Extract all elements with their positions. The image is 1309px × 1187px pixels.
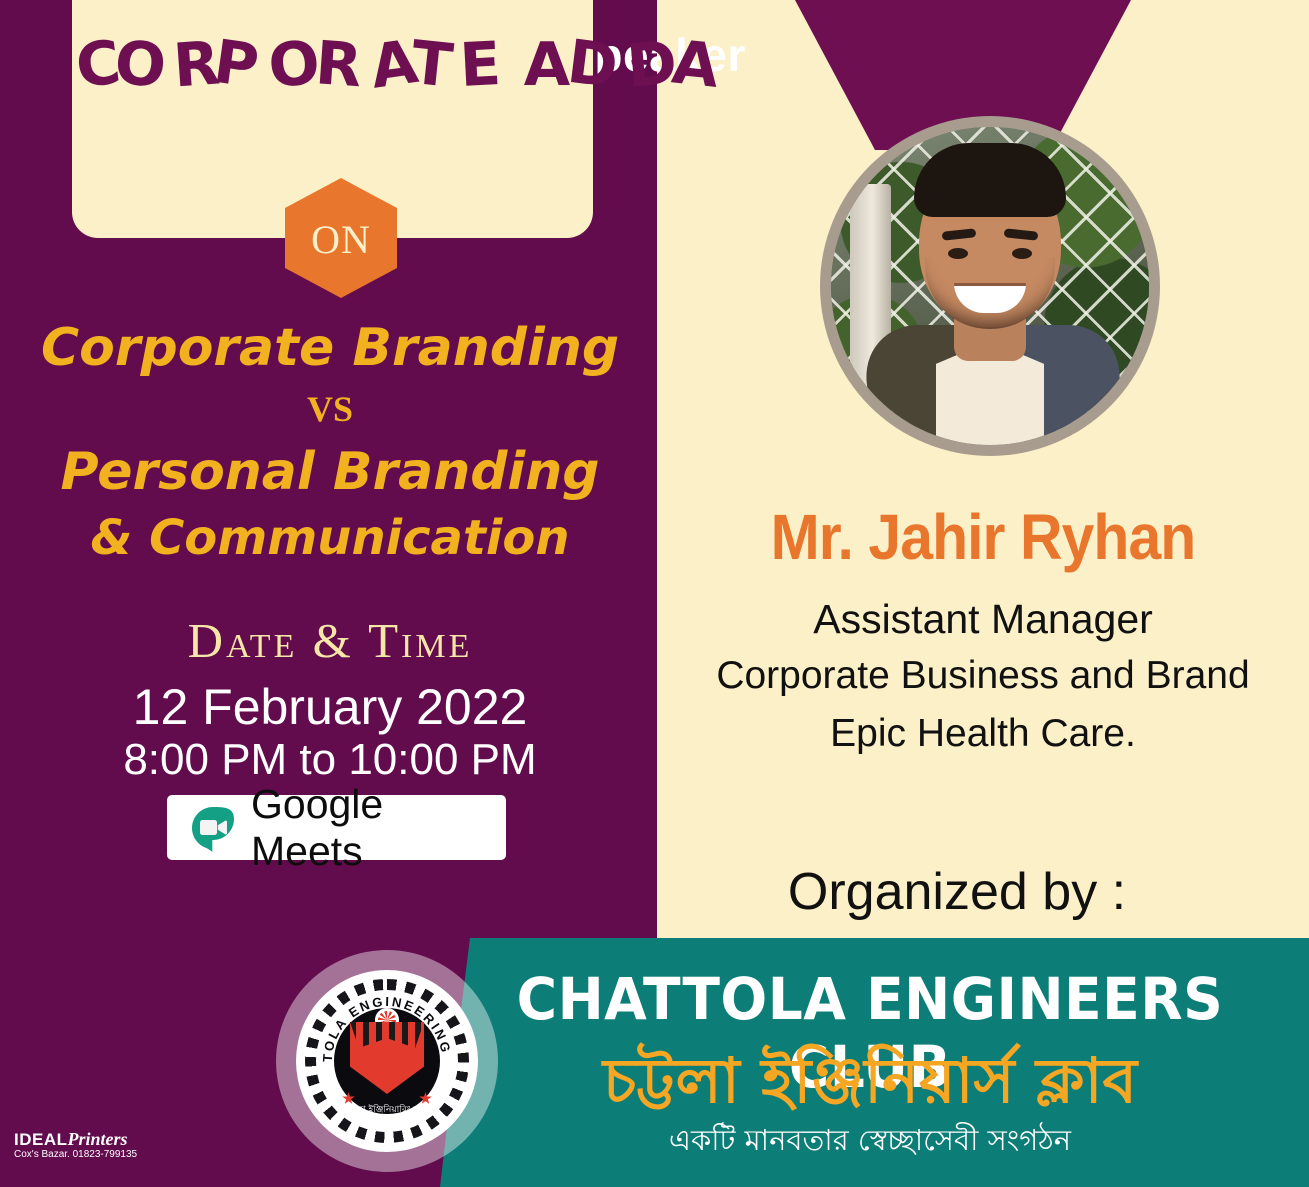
club-tagline: একটি মানবতার স্বেচ্ছাসেবী সংগঠন (470, 1118, 1270, 1167)
event-time: 8:00 PM to 10:00 PM (20, 735, 640, 785)
event-date: 12 February 2022 (20, 678, 640, 736)
logo-book-pages (350, 1022, 424, 1048)
printer-credit: IDEALPrinters Cox's Bazar. 01823-799135 (14, 1130, 137, 1160)
topic-line-3: & Communication (20, 510, 640, 566)
speaker-department: Corporate Business and Brand (657, 654, 1309, 698)
page-title-text: CORPORATE ADDA (72, 30, 724, 100)
topic-line-1: Corporate Branding (20, 318, 640, 378)
google-meet-video-icon (189, 804, 237, 852)
logo-bengali-text: চট্টলা ইঞ্জিনিয়ারিং ক্লাব (296, 1102, 478, 1117)
printer-name-bold: IDEAL (14, 1130, 68, 1149)
page-title: CORPORATE ADDA (72, 30, 593, 100)
event-poster: Speaker Mr. Jahir Ryhan Assistant Manage… (0, 0, 1309, 1187)
speaker-organization: Epic Health Care. (657, 712, 1309, 756)
topic-vs: VS (20, 388, 640, 430)
speaker-portrait (831, 127, 1149, 445)
speaker-role: Assistant Manager (657, 596, 1309, 643)
printer-name: IDEALPrinters (14, 1130, 137, 1149)
organized-by-label: Organized by : (657, 862, 1257, 922)
topic-line-2: Personal Branding (20, 442, 640, 502)
photo-person (831, 127, 1149, 445)
printer-name-script: Printers (68, 1129, 128, 1149)
google-meets-button[interactable]: Google Meets (167, 795, 506, 860)
printer-address: Cox's Bazar. 01823-799135 (14, 1150, 137, 1161)
speaker-name: Mr. Jahir Ryhan (683, 500, 1283, 574)
on-badge-label: ON (311, 216, 371, 263)
eye-right (1012, 248, 1032, 259)
date-time-heading: Date & Time (20, 612, 640, 669)
hair (914, 143, 1066, 217)
eye-left (948, 248, 968, 259)
speaker-photo-frame (820, 116, 1160, 456)
google-meets-label: Google Meets (251, 781, 506, 875)
club-logo: CHATTOLA ENGINEERING CLUB চট্টলা ইঞ্জিনি… (296, 970, 478, 1152)
